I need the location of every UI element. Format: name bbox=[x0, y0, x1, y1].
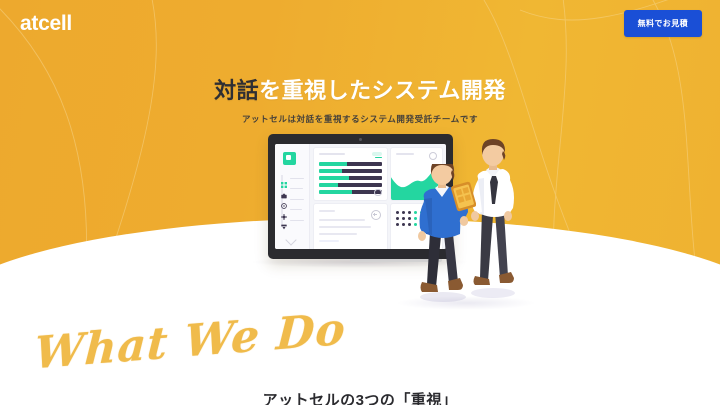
sidebar-item-label bbox=[290, 199, 304, 200]
gear-icon[interactable] bbox=[374, 189, 382, 197]
page-title: 対話を重視したシステム開発 bbox=[0, 78, 720, 104]
sidebar-item-label bbox=[290, 188, 303, 189]
sidebar-item-4[interactable] bbox=[281, 205, 309, 216]
section-script-title: What We Do bbox=[33, 304, 347, 380]
list-item bbox=[319, 226, 371, 228]
matrix-dot bbox=[402, 211, 405, 214]
target-icon bbox=[281, 196, 287, 202]
dashboard-logo-icon bbox=[283, 152, 296, 165]
matrix-dot bbox=[402, 217, 405, 220]
plus-circle-icon[interactable] bbox=[371, 210, 381, 220]
person-blue-shirt-with-tablet bbox=[410, 164, 476, 304]
list-item bbox=[319, 233, 357, 235]
top-navigation-bar: atcell 無料でお見積 bbox=[0, 0, 720, 52]
briefcase-icon bbox=[281, 186, 287, 192]
sidebar-item-label bbox=[290, 220, 304, 221]
card-badge bbox=[372, 152, 382, 156]
matrix-dot bbox=[402, 223, 405, 226]
close-circle-icon[interactable] bbox=[429, 152, 437, 160]
hero-copy: 対話を重視したシステム開発 アットセルは対話を重視するシステム開発受託チームです bbox=[0, 78, 720, 125]
settings-icon bbox=[281, 207, 287, 213]
headline-rest: を重視したシステム開発 bbox=[259, 78, 506, 103]
matrix-dot bbox=[396, 211, 399, 214]
list-item bbox=[319, 219, 365, 221]
table-row bbox=[319, 176, 382, 180]
grid-icon bbox=[281, 175, 287, 181]
dashboard-sidebar bbox=[275, 144, 310, 249]
card-title-placeholder bbox=[396, 153, 414, 155]
matrix-dot bbox=[396, 223, 399, 226]
table-row bbox=[319, 162, 382, 166]
list-item bbox=[319, 240, 339, 242]
matrix-dot bbox=[396, 217, 399, 220]
horizontal-bar-chart bbox=[319, 162, 382, 197]
sidebar-item-label bbox=[290, 178, 304, 179]
chevron-down-icon[interactable] bbox=[285, 234, 296, 245]
headline-accent: 対話 bbox=[214, 78, 259, 103]
bar-chart-card bbox=[314, 148, 387, 200]
card-title-placeholder bbox=[319, 153, 345, 155]
free-quote-button[interactable]: 無料でお見積 bbox=[624, 10, 702, 37]
section-subtitle: アットセルの3つの「重視」 bbox=[0, 389, 720, 405]
sidebar-item-1[interactable] bbox=[281, 173, 309, 184]
table-row bbox=[319, 183, 382, 187]
hero-subtitle: アットセルは対話を重視するシステム開発受託チームです bbox=[0, 113, 720, 125]
card-badge-line bbox=[375, 157, 382, 158]
text-list-card bbox=[314, 204, 387, 249]
table-row bbox=[319, 190, 382, 194]
site-logo[interactable]: atcell bbox=[20, 13, 72, 34]
chart-icon bbox=[281, 217, 287, 223]
page-root: atcell 無料でお見積 対話を重視したシステム開発 アットセルは対話を重視す… bbox=[0, 0, 720, 405]
sidebar-item-3[interactable] bbox=[281, 194, 309, 205]
table-row bbox=[319, 169, 382, 173]
hero-illustration bbox=[246, 128, 546, 308]
sidebar-item-5[interactable] bbox=[281, 215, 309, 226]
sidebar-item-label bbox=[290, 209, 302, 210]
list-item bbox=[319, 210, 335, 212]
dashboard-nav bbox=[281, 173, 309, 226]
sidebar-item-2[interactable] bbox=[281, 184, 309, 195]
